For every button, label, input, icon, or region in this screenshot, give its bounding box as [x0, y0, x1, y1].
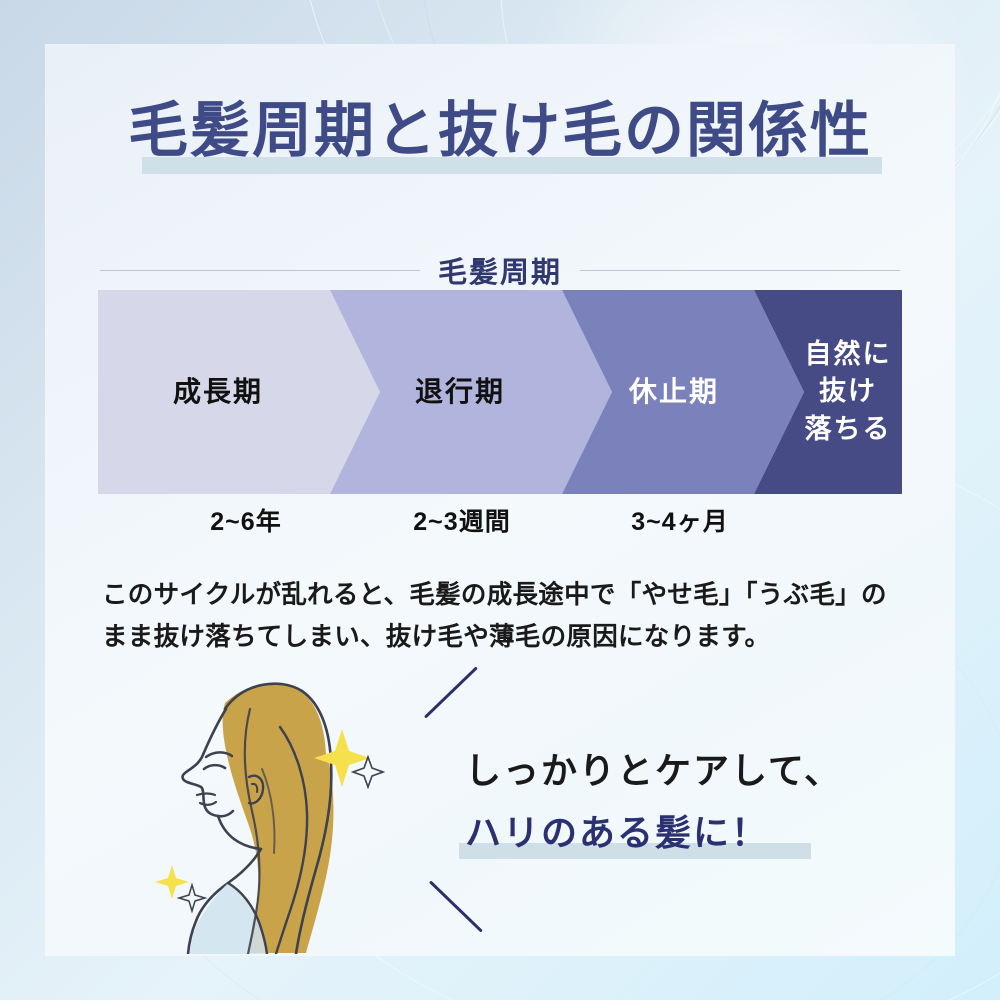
woman-profile-illustration: [130, 669, 460, 954]
body-paragraph: このサイクルが乱れると、毛髪の成長途中で「やせ毛」「うぶ毛」の まま抜け落ちてし…: [102, 575, 912, 658]
body-paragraph-line-1: このサイクルが乱れると、毛髪の成長途中で「やせ毛」「うぶ毛」の: [102, 575, 912, 617]
closing-message-line-1: しっかりとケアして、: [465, 744, 935, 798]
stage-duration: 2~6年: [146, 502, 346, 538]
closing-message: しっかりとケアして、 ハリのある髪に！: [465, 744, 935, 860]
sparkle-lower: [155, 865, 205, 911]
body-paragraph-line-2: まま抜け落ちてしまい、抜け毛や薄毛の原因になります。: [102, 617, 912, 659]
stage-duration: 2~3週間: [362, 502, 562, 538]
content-card: 毛髪周期と抜け毛の関係性 毛髪周期 成長期 退行期 休止期 自然に 抜け 落ちる: [45, 44, 955, 956]
stage-duration: 3~4ヶ月: [580, 502, 780, 538]
chevron-stage-growth: 成長期: [98, 290, 380, 494]
page-title-text: 毛髪周期と抜け毛の関係性: [128, 94, 872, 169]
divider-line-left: [100, 270, 420, 271]
page-title: 毛髪周期と抜け毛の関係性: [45, 94, 955, 169]
closing-message-line-2: ハリのある髪に！: [465, 812, 769, 853]
stage-duration-row: 2~6年 2~3週間 3~4ヶ月: [98, 502, 902, 542]
divider-line-right: [580, 270, 900, 271]
section-heading: 毛髪周期: [100, 249, 900, 291]
chevron-stage-label: 成長期: [98, 373, 380, 412]
hair-cycle-chevron-diagram: 成長期 退行期 休止期 自然に 抜け 落ちる: [98, 290, 902, 494]
section-heading-text: 毛髪周期: [438, 249, 562, 291]
poster-canvas: 毛髪周期と抜け毛の関係性 毛髪周期 成長期 退行期 休止期 自然に 抜け 落ちる: [0, 0, 1000, 1000]
closing-message-line-2-wrapper: ハリのある髪に！: [465, 806, 769, 860]
